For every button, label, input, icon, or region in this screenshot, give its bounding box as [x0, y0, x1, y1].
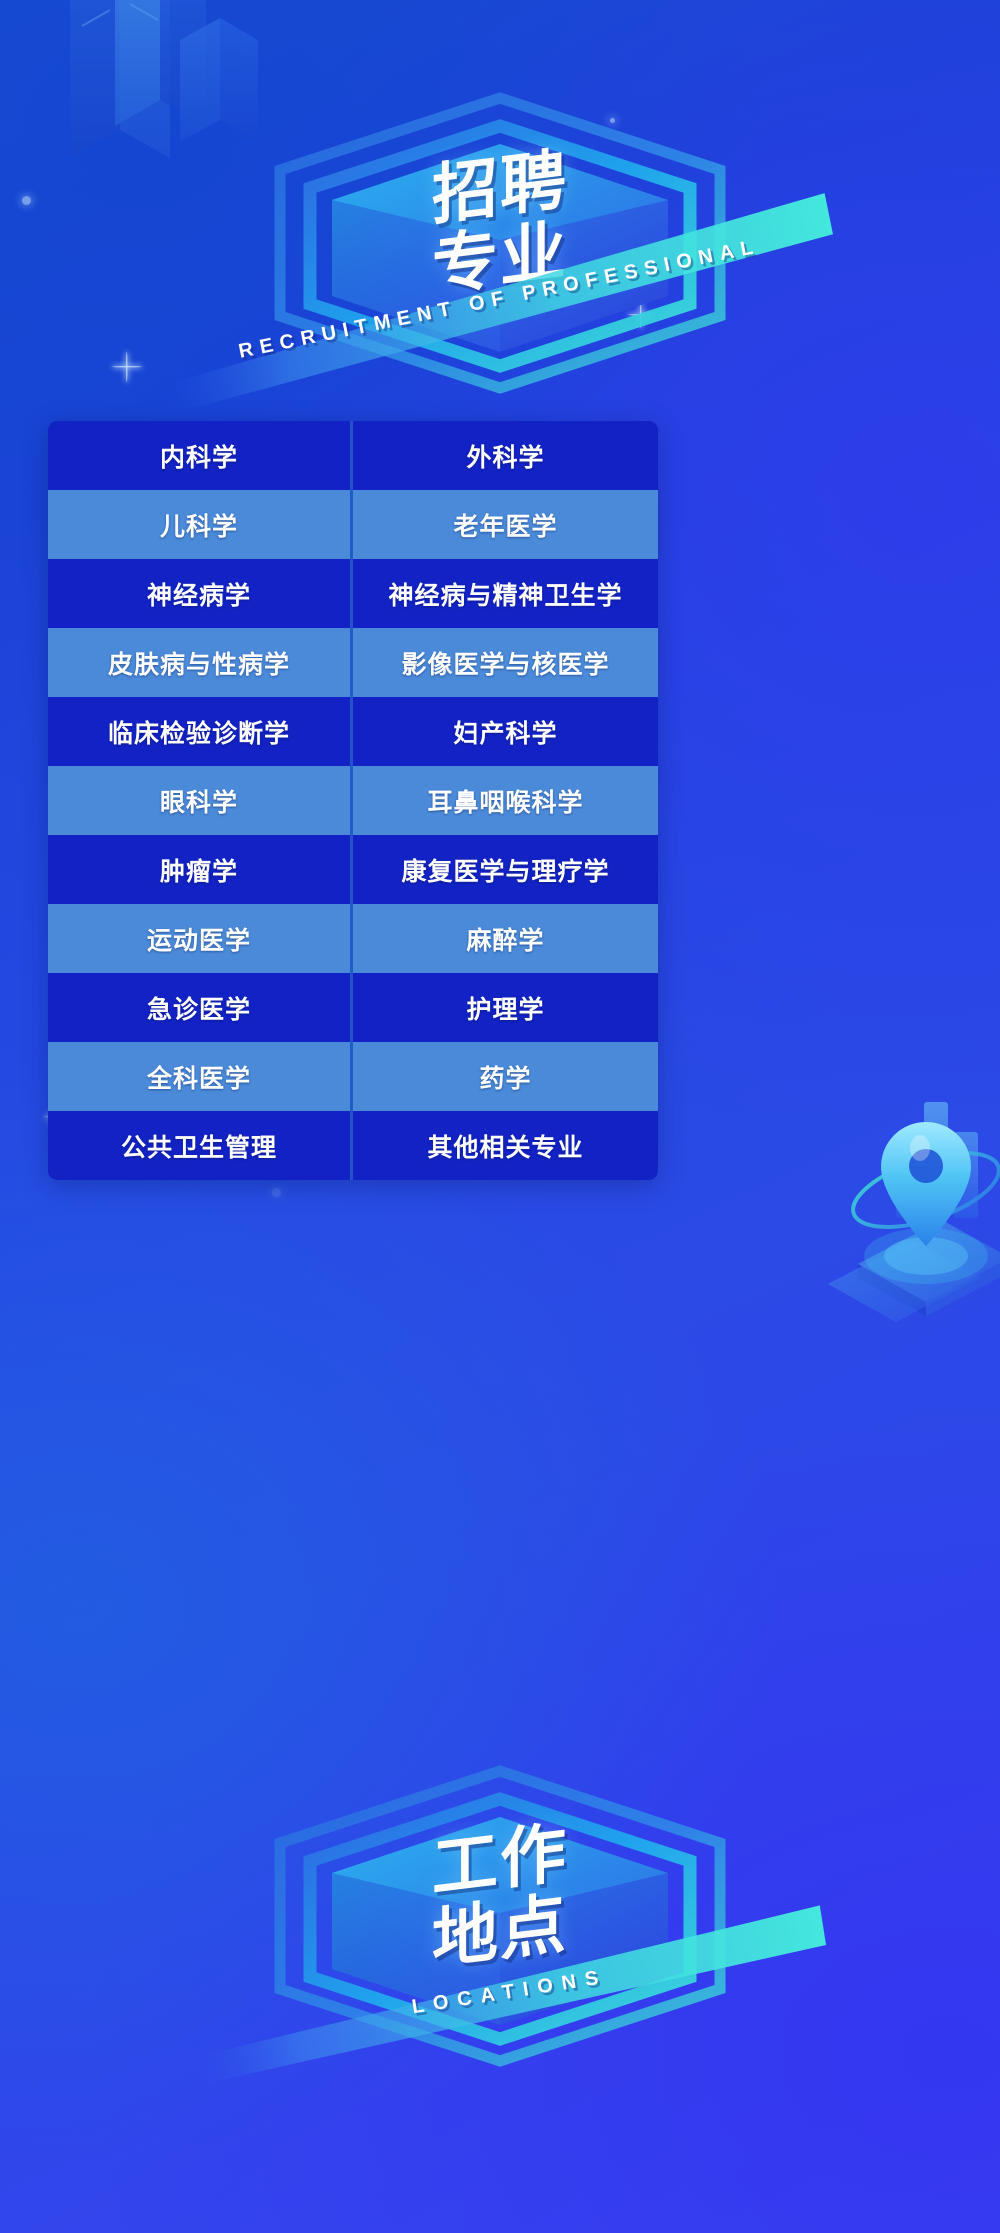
hexagon-badge-icon	[220, 92, 780, 392]
specialty-cell[interactable]: 药学	[353, 1042, 658, 1111]
specialty-cell[interactable]: 急诊医学	[48, 973, 353, 1042]
header-badge: 招聘 专业 RECRUITMENT OF PROFESSIONAL	[220, 92, 780, 392]
specialty-cell[interactable]: 运动医学	[48, 904, 353, 973]
map-pin-icon	[710, 1078, 1000, 1358]
table-row: 眼科学 耳鼻咽喉科学	[48, 766, 658, 835]
specialty-cell[interactable]: 护理学	[353, 973, 658, 1042]
table-row: 全科医学 药学	[48, 1042, 658, 1111]
table-row: 急诊医学 护理学	[48, 973, 658, 1042]
specialty-cell[interactable]: 临床检验诊断学	[48, 697, 353, 766]
table-row: 儿科学 老年医学	[48, 490, 658, 559]
footer-badge: 工作 地点 LOCATIONS	[220, 1765, 780, 2065]
specialty-cell[interactable]: 皮肤病与性病学	[48, 628, 353, 697]
hexagon-badge-icon	[220, 1765, 780, 2065]
specialty-cell[interactable]: 耳鼻咽喉科学	[353, 766, 658, 835]
specialty-cell[interactable]: 公共卫生管理	[48, 1111, 353, 1180]
specialty-cell[interactable]: 内科学	[48, 421, 353, 490]
specialty-cell[interactable]: 外科学	[353, 421, 658, 490]
specialty-cell[interactable]: 儿科学	[48, 490, 353, 559]
specialty-cell[interactable]: 麻醉学	[353, 904, 658, 973]
table-row: 神经病学 神经病与精神卫生学	[48, 559, 658, 628]
table-row: 运动医学 麻醉学	[48, 904, 658, 973]
table-row: 皮肤病与性病学 影像医学与核医学	[48, 628, 658, 697]
specialty-cell[interactable]: 眼科学	[48, 766, 353, 835]
specialty-cell[interactable]: 康复医学与理疗学	[353, 835, 658, 904]
sparkle-star-icon	[112, 352, 142, 382]
table-row: 肿瘤学 康复医学与理疗学	[48, 835, 658, 904]
table-row: 临床检验诊断学 妇产科学	[48, 697, 658, 766]
table-row: 内科学 外科学	[48, 421, 658, 490]
specialty-cell[interactable]: 影像医学与核医学	[353, 628, 658, 697]
specialty-cell[interactable]: 妇产科学	[353, 697, 658, 766]
table-row: 公共卫生管理 其他相关专业	[48, 1111, 658, 1180]
bokeh-dot	[272, 1188, 281, 1197]
specialty-cell[interactable]: 其他相关专业	[353, 1111, 658, 1180]
specialty-cell[interactable]: 全科医学	[48, 1042, 353, 1111]
specialty-cell[interactable]: 肿瘤学	[48, 835, 353, 904]
specialty-cell[interactable]: 老年医学	[353, 490, 658, 559]
specialties-table: 内科学 外科学 儿科学 老年医学 神经病学 神经病与精神卫生学 皮肤病与性病学 …	[48, 421, 658, 1180]
specialty-cell[interactable]: 神经病与精神卫生学	[353, 559, 658, 628]
bokeh-dot	[22, 196, 31, 205]
recruitment-poster: 招聘 专业 RECRUITMENT OF PROFESSIONAL 内	[0, 0, 1000, 2233]
specialty-cell[interactable]: 神经病学	[48, 559, 353, 628]
